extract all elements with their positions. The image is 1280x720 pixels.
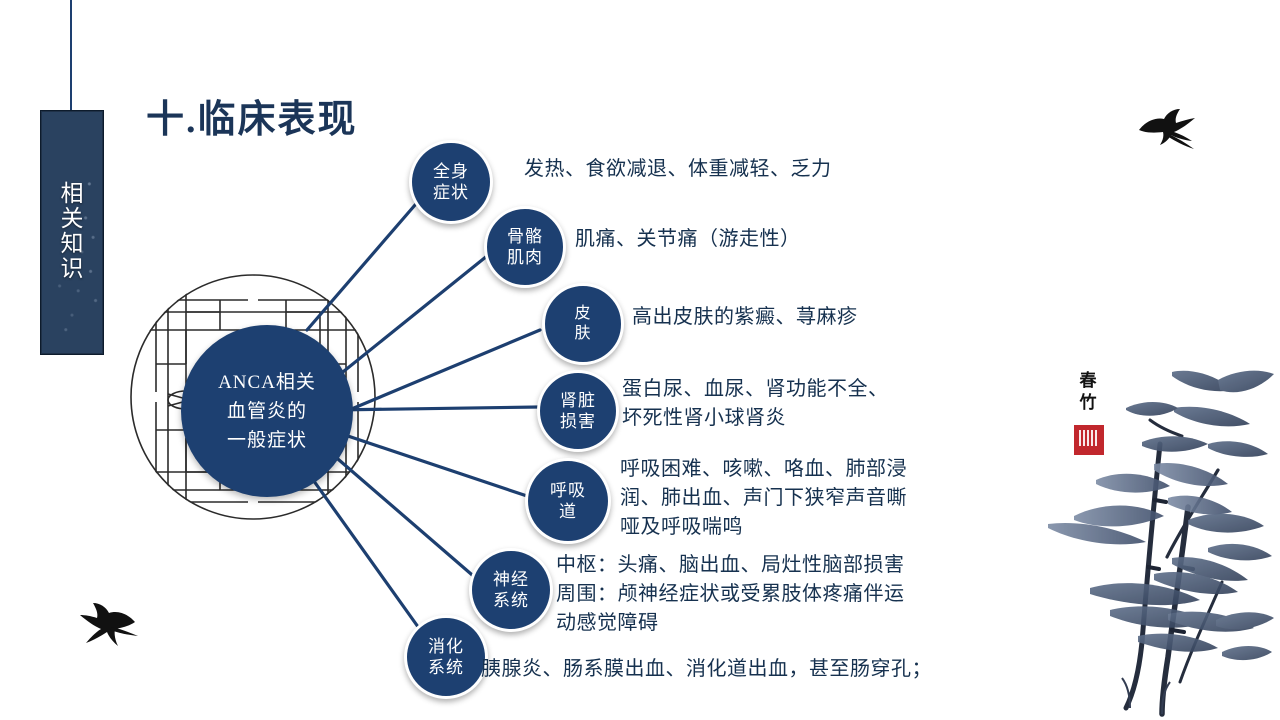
- branch-desc-musculoskeletal: 肌痛、关节痛（游走性）: [575, 225, 995, 254]
- central-node-line1: ANCA相关: [218, 368, 316, 397]
- branch-desc-skin: 高出皮肤的紫癜、荨麻疹: [632, 303, 1052, 332]
- branch-node-respiratory-line2: 道: [559, 501, 577, 522]
- branch-desc-nervous: 中枢：头痛、脑出血、局灶性脑部损害 周围：颅神经症状或受累肢体疼痛伴运 动感觉障…: [556, 551, 1026, 638]
- swallow-icon-bottom-left: [78, 602, 140, 648]
- branch-node-nervous-line2: 系统: [493, 590, 529, 611]
- central-node-line2: 血管炎的: [227, 397, 307, 426]
- central-node-line3: 一般症状: [227, 426, 307, 455]
- branch-node-skin-line2: 肤: [574, 324, 591, 344]
- branch-node-musculoskeletal-line1: 骨骼: [507, 226, 543, 247]
- branch-node-respiratory-line1: 呼吸: [550, 480, 586, 501]
- branch-node-digestive[interactable]: 消化 系统: [404, 615, 488, 699]
- calligraphy-line2: 竹: [1058, 392, 1118, 414]
- branch-node-skin[interactable]: 皮 肤: [542, 283, 624, 365]
- calligraphy-text: 春 竹: [1058, 370, 1118, 414]
- branch-desc-kidney: 蛋白尿、血尿、肾功能不全、 坏死性肾小球肾炎: [622, 375, 1022, 433]
- branch-node-skin-line1: 皮: [574, 304, 591, 324]
- branch-node-nervous-line1: 神经: [493, 569, 529, 590]
- branch-node-systemic-line2: 症状: [433, 182, 469, 203]
- swallow-icon-top-right: [1136, 108, 1198, 150]
- calligraphy-line1: 春: [1058, 370, 1118, 392]
- branch-node-nervous[interactable]: 神经 系统: [469, 548, 553, 632]
- slide-canvas: 相关知识 十.临床表现: [0, 0, 1280, 720]
- branch-node-kidney-line2: 损害: [560, 411, 596, 432]
- branch-node-digestive-line1: 消化: [428, 636, 464, 657]
- branch-node-systemic-line1: 全身: [433, 161, 469, 182]
- branch-node-systemic[interactable]: 全身 症状: [409, 140, 493, 224]
- red-seal-icon: [1074, 425, 1104, 455]
- branch-node-digestive-line2: 系统: [428, 657, 464, 678]
- branch-node-musculoskeletal-line2: 肌肉: [507, 247, 543, 268]
- branch-node-musculoskeletal[interactable]: 骨骼 肌肉: [484, 206, 566, 288]
- branch-desc-systemic: 发热、食欲减退、体重减轻、乏力: [524, 155, 994, 184]
- central-node[interactable]: ANCA相关 血管炎的 一般症状: [181, 325, 353, 497]
- branch-desc-digestive: 胰腺炎、肠系膜出血、消化道出血，甚至肠穿孔；: [481, 655, 1101, 684]
- branch-node-kidney-line1: 肾脏: [560, 390, 596, 411]
- branch-node-respiratory[interactable]: 呼吸 道: [525, 458, 611, 544]
- branch-node-kidney[interactable]: 肾脏 损害: [537, 370, 619, 452]
- branch-desc-respiratory: 呼吸困难、咳嗽、咯血、肺部浸 润、肺出血、声门下狭窄声音嘶 哑及呼吸喘鸣: [620, 455, 1020, 542]
